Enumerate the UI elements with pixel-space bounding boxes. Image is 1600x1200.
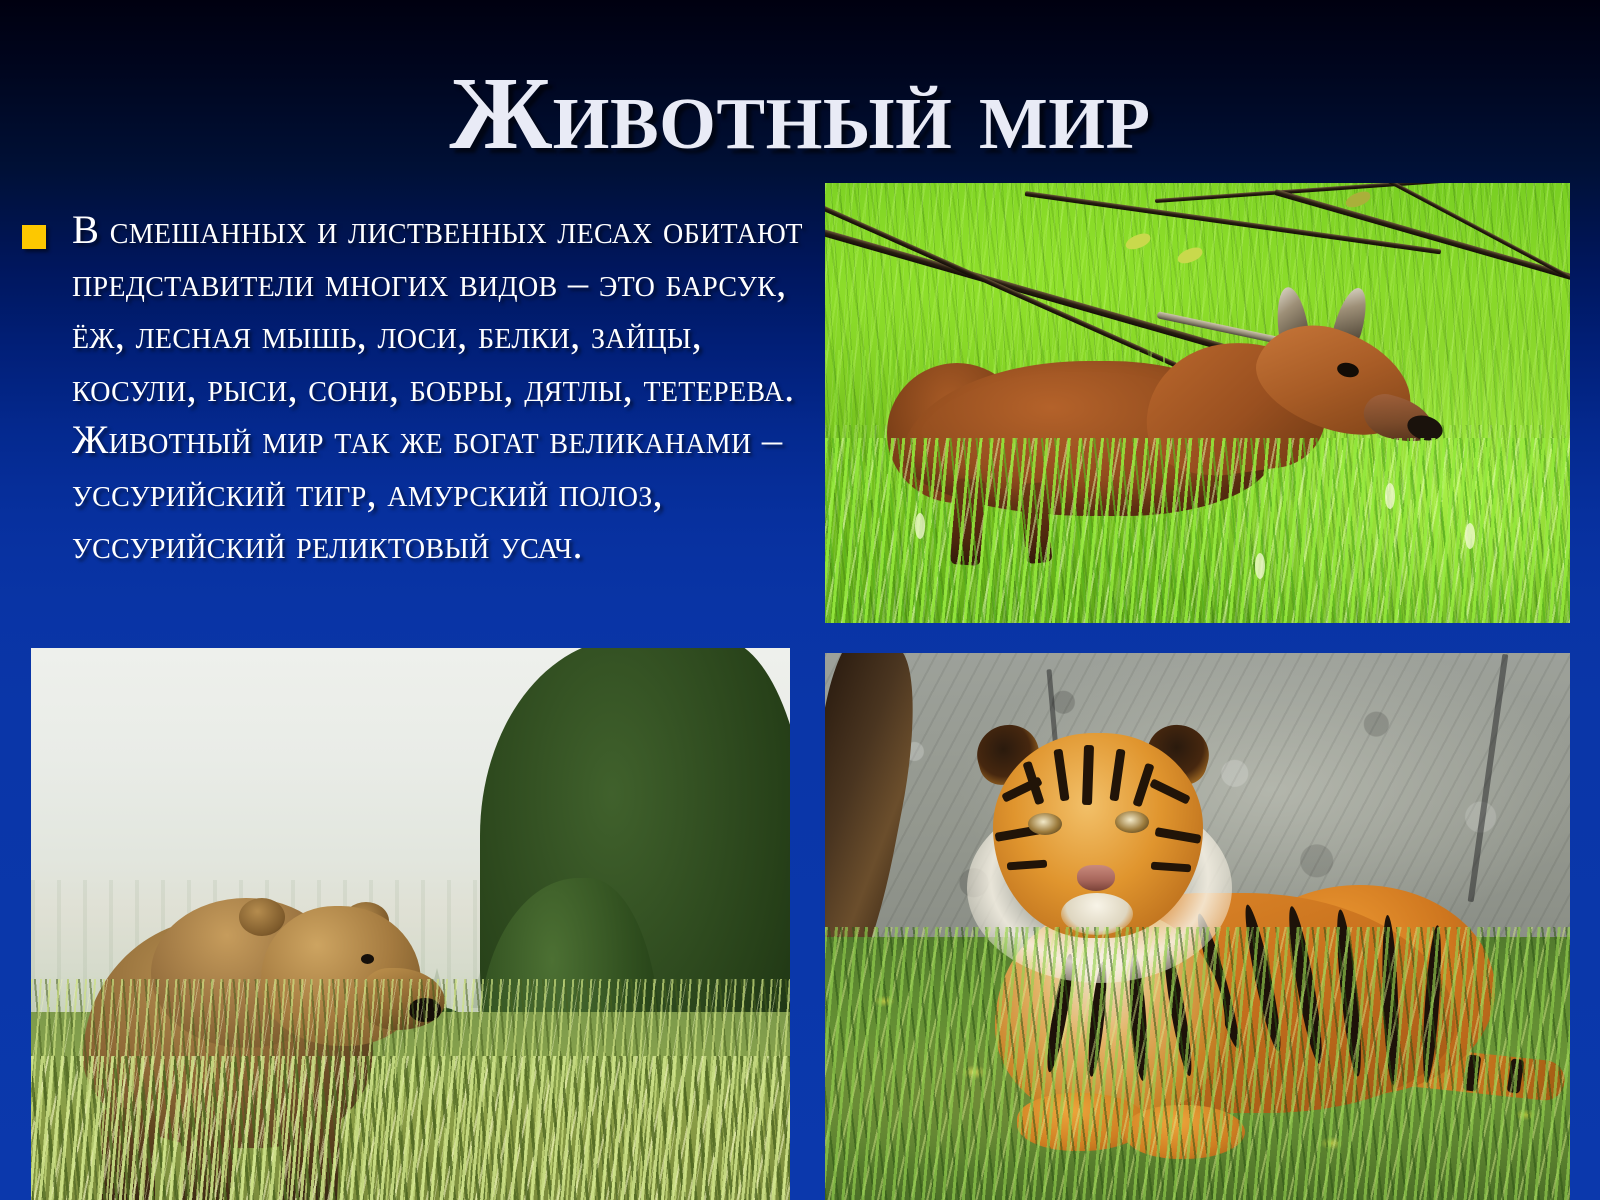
grass-seedhead: [1465, 523, 1475, 549]
grass-seedhead: [1385, 483, 1395, 509]
tiger-face-stripe: [1082, 745, 1094, 805]
photo-deer[interactable]: [825, 183, 1570, 623]
square-bullet-icon: [22, 225, 46, 249]
tiger-nose: [1077, 865, 1115, 891]
bear-eye: [361, 954, 374, 964]
photo-bear[interactable]: [31, 648, 790, 1200]
slide-canvas: Животный мир В смешанных и лиственных ле…: [0, 0, 1600, 1200]
page-title: Животный мир: [0, 58, 1600, 170]
tiger-eye: [1028, 813, 1062, 835]
bear-grass-foreground: [31, 1056, 790, 1200]
bullet-item-text: В смешанных и лиственных лесах обитают п…: [72, 204, 812, 572]
bullet-list: В смешанных и лиственных лесах обитают п…: [12, 204, 812, 572]
deer-grass-foreground: [825, 438, 1570, 623]
tiger-eye: [1115, 811, 1149, 833]
tiger-grass-foreground: [825, 927, 1570, 1200]
grass-seedhead: [915, 513, 925, 539]
photo-tiger[interactable]: [825, 653, 1570, 1200]
grass-seedhead: [1255, 553, 1265, 579]
